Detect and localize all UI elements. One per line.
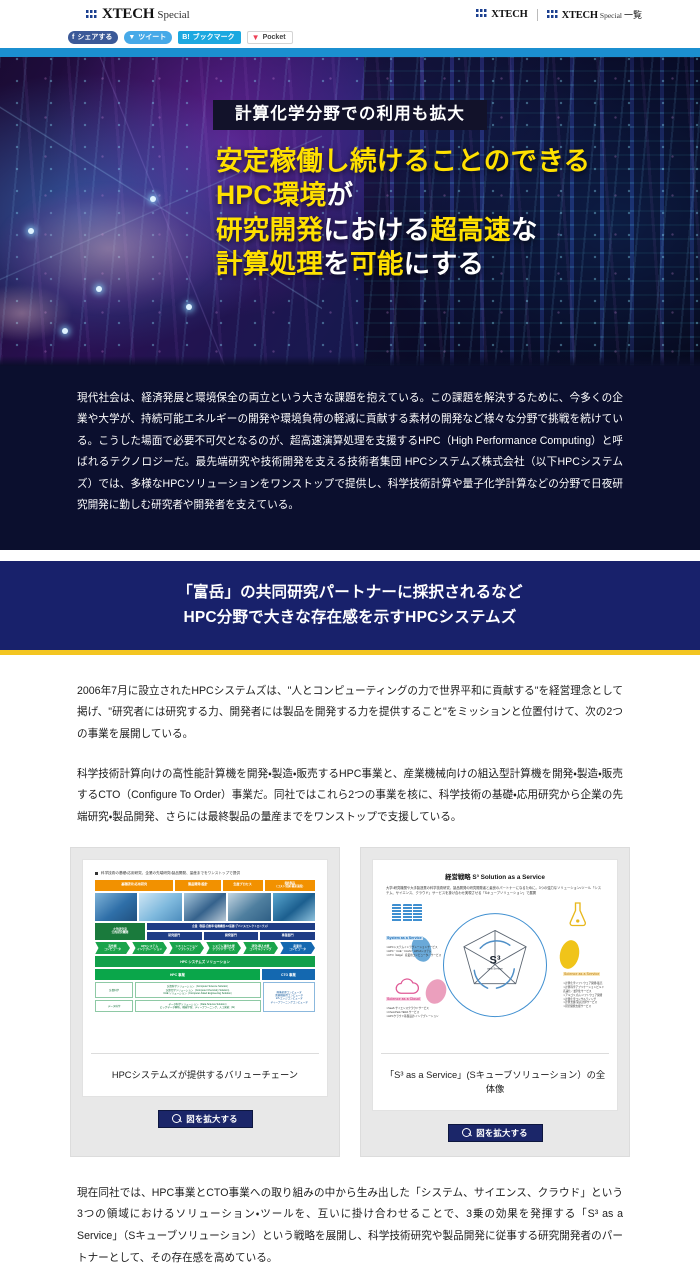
diagram-bullet-text: 科学技術の基礎・応用研究、企業の先端研究・製品開発、量産までをワンストップで提供	[101, 871, 240, 876]
section-banner: 「富岳」の共同研究パートナーに採択されるなど HPC分野で大きな存在感を示すHP…	[0, 561, 700, 654]
hero-title-plain: な	[511, 215, 538, 245]
solution-arrow: 産業用 コンピュータ	[280, 942, 315, 955]
hero-title-highlight: 研究開発	[216, 215, 323, 245]
diagram-bullet-row: 科学技術の基礎・応用研究、企業の先端研究・製品開発、量産までをワンストップで提供	[95, 871, 319, 876]
intro-section: 現代社会は、経済発展と環境保全の両立という大きな課題を抱えている。この課題を解決…	[0, 366, 700, 550]
actor-dept-cell: 開発部門	[204, 932, 259, 940]
share-facebook-button[interactable]: f シェアする	[68, 31, 118, 44]
s3-center-label: S³ as a Service	[487, 956, 502, 971]
magnifier-icon	[172, 1114, 182, 1124]
solution-arrow: システム運用支援 クラウドサービス	[206, 942, 241, 955]
server-stack-icon	[392, 904, 422, 922]
nav-xtech-label: XTECH	[491, 9, 527, 20]
diagram-title: 経営戦略 S³ Solution as a Service	[386, 872, 604, 881]
service-title: System as a Service	[386, 936, 423, 940]
hero-top-accent-bar	[0, 48, 700, 57]
hero-title-line-3: 研究開発における超高速な	[216, 213, 700, 247]
nav-list-label[interactable]: 一覧	[624, 8, 642, 21]
table-row-label: 計算科学	[95, 982, 133, 998]
service-block-science: Science as a Service ⇒計算化学ソフトウェア開発・販売 ⇒計…	[563, 962, 604, 1009]
site-header: XTECH Special XTECH XTECH Special 一覧	[0, 0, 700, 27]
service-item: ⇒研究開発支援サービス	[563, 1005, 604, 1009]
solution-arrow-row: 高性能 コンピュータ HPCシステム インテグレーション シミュレーション ソフ…	[91, 942, 319, 955]
stage-cell: 最終製品 (コスト低減・量産速度)	[265, 880, 315, 891]
bullet-square-icon	[95, 872, 98, 875]
nav-xtech-special-label: XTECH	[562, 10, 598, 21]
intro-paragraph: 現代社会は、経済発展と環境保全の両立という大きな課題を抱えている。この課題を解決…	[77, 388, 623, 516]
stage-row: 基礎研究・応用研究 製品開発・設計 生産プロセス 最終製品 (コスト低減・量産速…	[91, 880, 319, 891]
business-split-row: HPC 事業 CTO 事業	[91, 969, 319, 980]
share-pocket-label: Pocket	[263, 34, 286, 41]
nav-special-word: Special	[600, 11, 622, 20]
body-paragraph-2: 科学技術計算向けの高性能計算機を開発・製造・販売するHPC事業と、産業機械向けの…	[77, 764, 623, 829]
hero-title-highlight: 可能	[350, 249, 404, 279]
figure-card-s3-service: 経営戦略 S³ Solution as a Service 大学・研究機関や大手…	[360, 847, 630, 1157]
hero-title-highlight: 安定稼働し続けることのできる	[216, 146, 590, 176]
table-row-detail: データ科学ソリューション（Data Science Solution） ビッグデ…	[135, 1000, 261, 1012]
share-hatena-label: ブックマーク	[193, 34, 235, 41]
figure-frame: 経営戦略 S³ Solution as a Service 大学・研究機関や大手…	[372, 859, 618, 1111]
solution-arrow: 高性能 コンピュータ	[95, 942, 130, 955]
service-block-cloud: Science as a Cloud ⇒SaaS サイエンスクラウドサービス ⇒…	[386, 987, 439, 1018]
nav-divider	[537, 9, 538, 21]
hero-title-line-2: HPC環境が	[216, 178, 700, 212]
hero-title-plain: が	[326, 180, 353, 210]
service-item-list: ⇒HPCシステムインテグレーションサービス ⇒HPC・CAE・CALM・HPCA…	[386, 946, 441, 958]
diagram-s3-service: 経営戦略 S³ Solution as a Service 大学・研究機関や大手…	[381, 869, 609, 1048]
service-block-system: System as a Service ⇒HPCシステムインテグレーションサービ…	[386, 926, 441, 957]
service-title: Science as a Service	[563, 972, 600, 976]
actor-dept-cell: 事業部門	[260, 932, 315, 940]
brand-word: XTECH	[102, 6, 154, 23]
solution-bar: HPC システムズ ソリューション	[95, 956, 315, 967]
enlarge-figure-label: 図を拡大する	[476, 1127, 527, 1139]
hpc-business-cell: HPC 事業	[95, 969, 260, 980]
flask-icon	[562, 900, 592, 930]
solution-arrow: シミュレーション ソフトウェア	[169, 942, 204, 955]
s3-center-text: S³	[487, 956, 502, 967]
diagram-lead-text: 大学・研究機関や大手製造業の科学技術研究、製品開発の研究開発者と最良のパートナー…	[386, 886, 604, 897]
nikkei-mark-icon	[86, 10, 98, 18]
brand-special: Special	[157, 9, 189, 21]
stage-cell: 生産プロセス	[223, 880, 263, 891]
pocket-icon: ▼	[252, 34, 260, 42]
actor-row: 大学研究室 公的研究機関 企業（製薬・自動車・電機機器・FA装置・デバイス/エレ…	[91, 923, 319, 940]
cto-detail-cell: 画像処理コンピュータ 医療機器用コンピュータ IoT・エッジコンピュータ ディー…	[263, 982, 315, 1012]
twitter-icon: ▼	[128, 34, 135, 41]
hero-title-line-1: 安定稼働し続けることのできる	[216, 144, 700, 178]
banner-line-1: 「富岳」の共同研究パートナーに採択されるなど	[0, 580, 700, 605]
figure-caption: 「S³ as a Service」(Sキューブソリューション）の全体像	[381, 1053, 609, 1104]
diagram-value-chain: 科学技術の基礎・応用研究、企業の先端研究・製品開発、量産までをワンストップで提供…	[91, 869, 319, 1048]
nikkei-mark-icon	[476, 9, 488, 17]
service-item-list: ⇒計算化学ソフトウェア開発・販売 ⇒計算科学アプリケーションビルド 高速化／並列…	[563, 982, 604, 1009]
section-gap	[0, 550, 700, 561]
magnifier-icon	[462, 1128, 472, 1138]
service-item: ⇒CTO（Edge）産業用コンピュータ／サービス	[386, 954, 441, 958]
hero-title-line-4: 計算処理を可能にする	[216, 247, 700, 281]
service-title: Science as a Cloud	[386, 997, 421, 1001]
nikkei-mark-icon	[547, 10, 559, 18]
enlarge-figure-label: 図を拡大する	[186, 1113, 237, 1125]
enlarge-figure-button[interactable]: 図を拡大する	[158, 1110, 253, 1128]
body-paragraph-3: 現在同社では、HPC事業とCTO事業への取り組みの中から生み出した「システム、サ…	[77, 1183, 623, 1270]
share-facebook-label: シェアする	[77, 34, 112, 41]
share-bar: f シェアする ▼ ツイート B! ブックマーク ▼ Pocket	[0, 27, 700, 48]
share-hatena-button[interactable]: B! ブックマーク	[178, 31, 240, 44]
hero-title-highlight: HPC環境	[216, 180, 326, 210]
service-item: ⇒アルゴリズム・ソフトウェア開発	[563, 994, 604, 998]
hero-title-plain: における	[323, 215, 430, 245]
nav-xtech-link[interactable]: XTECH	[476, 9, 527, 20]
facebook-icon: f	[72, 34, 74, 41]
service-item: ⇒HPCクラウド基盤設計・インテグレーション	[386, 1015, 439, 1019]
banner-line-2: HPC分野で大きな存在感を示すHPCシステムズ	[0, 605, 700, 630]
share-twitter-button[interactable]: ▼ ツイート	[124, 31, 172, 44]
table-row-detail: 計算科学ソリューション（Computer Science Solution） 計…	[135, 982, 261, 998]
hero-title-highlight: 超高速	[430, 215, 510, 245]
figure-card-value-chain: 科学技術の基礎・応用研究、企業の先端研究・製品開発、量産までをワンストップで提供…	[70, 847, 340, 1157]
share-pocket-button[interactable]: ▼ Pocket	[247, 31, 293, 44]
stage-cell: 製品開発・設計	[175, 880, 220, 891]
solution-arrow: 研究・導入支援 コンサルティング	[243, 942, 278, 955]
body-section: 2006年7月に設立されたHPCシステムズは、"人とコンピューティングの力で世界…	[0, 655, 700, 1270]
actor-left-cell: 大学研究室 公的研究機関	[95, 923, 145, 940]
body-paragraph-1: 2006年7月に設立されたHPCシステムズは、"人とコンピューティングの力で世界…	[77, 681, 623, 746]
actor-right-header: 企業（製薬・自動車・電機機器・FA装置・デバイス/エレクトロニクス）	[147, 923, 315, 930]
hero-title-plain: を	[323, 249, 350, 279]
figure-card-list: 科学技術の基礎・応用研究、企業の先端研究・製品開発、量産までをワンストップで提供…	[70, 847, 630, 1157]
figure-caption: HPCシステムズが提供するバリューチェーン	[91, 1053, 319, 1090]
stage-cell: 基礎研究・応用研究	[95, 880, 173, 891]
header-nav: XTECH XTECH Special 一覧	[476, 8, 642, 21]
solution-arrow: HPCシステム インテグレーション	[132, 942, 167, 955]
figure-frame: 科学技術の基礎・応用研究、企業の先端研究・製品開発、量産までをワンストップで提供…	[82, 859, 328, 1097]
cto-business-cell: CTO 事業	[262, 969, 315, 980]
hero-title-plain: にする	[404, 249, 485, 279]
s3-center-sub: as a Service	[487, 968, 502, 971]
hero-title: 安定稼働し続けることのできるHPC環境が研究開発における超高速な計算処理を可能に…	[0, 144, 700, 282]
diagram-photo-strip	[91, 893, 319, 921]
hero-banner: 計算化学分野での利用も拡大 安定稼働し続けることのできるHPC環境が研究開発にお…	[0, 48, 700, 366]
hatena-icon: B!	[182, 34, 189, 41]
service-item-list: ⇒SaaS サイエンスクラウドサービス ⇒ChemPark-TERA サービス …	[386, 1007, 439, 1019]
actor-dept-cell: 研究部門	[147, 932, 202, 940]
enlarge-figure-button[interactable]: 図を拡大する	[448, 1124, 543, 1142]
hero-kicker: 計算化学分野での利用も拡大	[213, 100, 487, 130]
solution-table: 計算科学 データ科学 計算科学ソリューション（Computer Science …	[91, 982, 319, 1012]
brand-logo[interactable]: XTECH Special	[86, 6, 190, 23]
share-twitter-label: ツイート	[138, 34, 166, 41]
table-row-label: データ科学	[95, 1000, 133, 1012]
diagram-canvas: S³ as a Service System as a Service ⇒HPC…	[386, 900, 604, 1026]
hero-title-highlight: 計算処理	[216, 249, 323, 279]
nav-xtech-special-link[interactable]: XTECH Special 一覧	[547, 8, 642, 21]
